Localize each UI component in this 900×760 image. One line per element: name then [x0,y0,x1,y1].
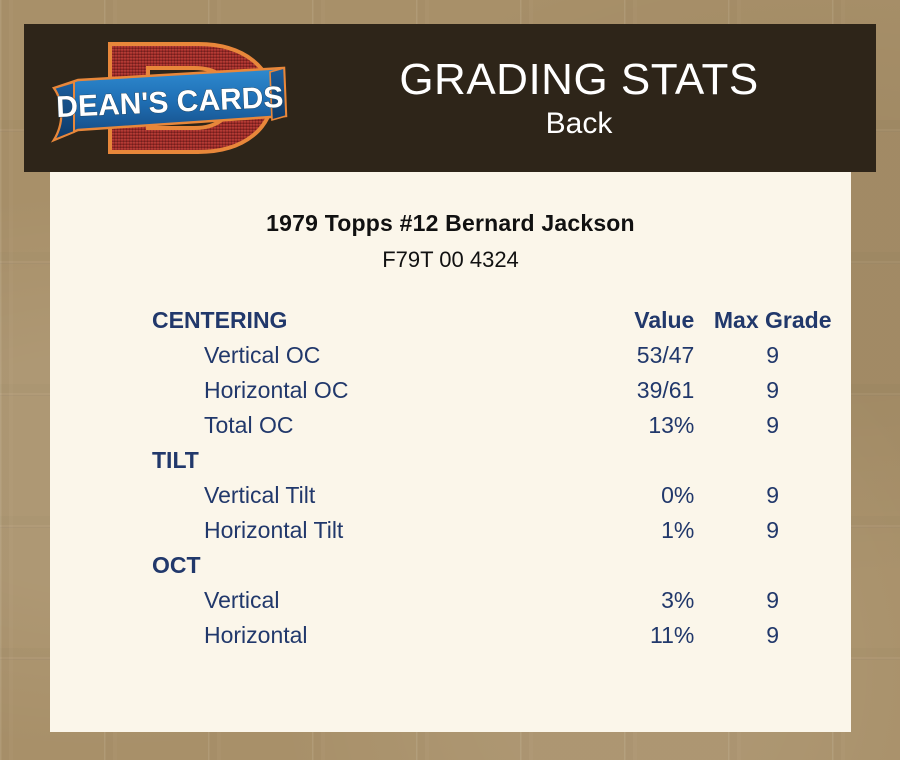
table-row: Total OC 13% 9 [50,408,851,443]
section-spacer-grade [694,548,851,583]
table-row: Vertical Tilt 0% 9 [50,478,851,513]
row-max-grade: 9 [694,478,851,513]
row-label: Vertical [50,583,543,618]
table-header-row: CENTERING Value Max Grade [50,303,851,338]
table-row: Horizontal Tilt 1% 9 [50,513,851,548]
grading-stats-card: DEAN'S CARDS GRADING STATS Back 1979 Top… [0,0,900,760]
table-row: Vertical OC 53/47 9 [50,338,851,373]
row-max-grade: 9 [694,408,851,443]
row-label: Vertical OC [50,338,543,373]
row-label: Horizontal Tilt [50,513,543,548]
row-value: 13% [543,408,694,443]
table-row: Horizontal OC 39/61 9 [50,373,851,408]
section-heading-centering: CENTERING [50,303,543,338]
section-row-oct: OCT [50,548,851,583]
row-value: 11% [543,618,694,653]
header-bar: DEAN'S CARDS GRADING STATS Back [24,24,876,172]
table-row: Vertical 3% 9 [50,583,851,618]
section-spacer-grade [694,443,851,478]
section-row-tilt: TILT [50,443,851,478]
page-subtitle: Back [308,105,850,143]
row-max-grade: 9 [694,513,851,548]
row-max-grade: 9 [694,338,851,373]
card-title: 1979 Topps #12 Bernard Jackson [50,210,851,237]
content-panel: 1979 Topps #12 Bernard Jackson F79T 00 4… [50,172,851,732]
row-value: 53/47 [543,338,694,373]
header-title-block: GRADING STATS Back [308,55,876,143]
row-label: Vertical Tilt [50,478,543,513]
row-max-grade: 9 [694,373,851,408]
row-value: 39/61 [543,373,694,408]
section-spacer-value [543,548,694,583]
row-value: 3% [543,583,694,618]
row-label: Horizontal OC [50,373,543,408]
row-label: Total OC [50,408,543,443]
card-id: F79T 00 4324 [50,247,851,273]
logo-graphic: DEAN'S CARDS [48,28,308,168]
section-heading-oct: OCT [50,548,543,583]
row-max-grade: 9 [694,583,851,618]
row-label: Horizontal [50,618,543,653]
row-value: 1% [543,513,694,548]
row-value: 0% [543,478,694,513]
page-title: GRADING STATS [308,55,850,105]
table-row: Horizontal 11% 9 [50,618,851,653]
grading-stats-table: CENTERING Value Max Grade Vertical OC 53… [50,303,851,653]
section-heading-tilt: TILT [50,443,543,478]
column-header-value: Value [543,303,694,338]
deans-cards-logo[interactable]: DEAN'S CARDS [48,28,308,168]
row-max-grade: 9 [694,618,851,653]
section-spacer-value [543,443,694,478]
column-header-max-grade: Max Grade [694,303,851,338]
